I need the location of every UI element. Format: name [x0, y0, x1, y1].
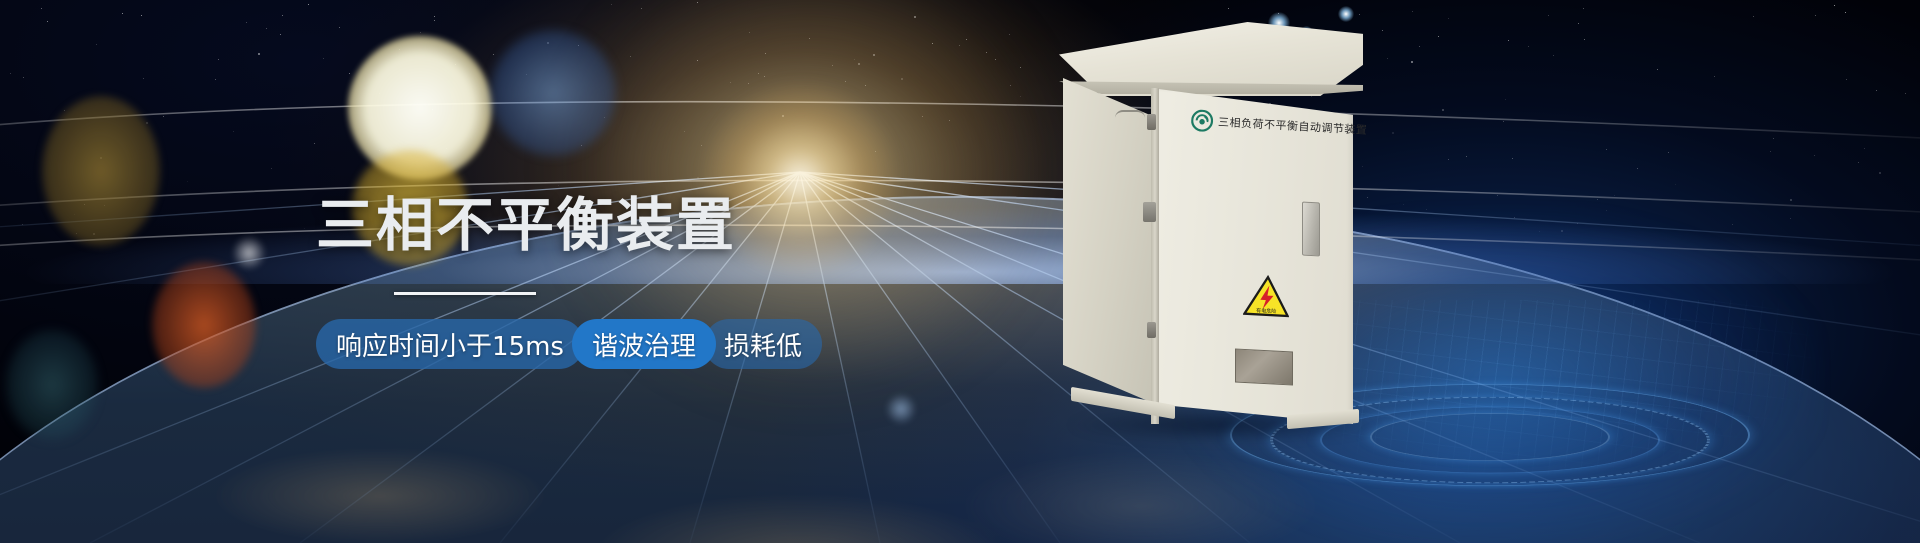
star — [215, 79, 216, 80]
cabinet-door-seam — [1151, 88, 1159, 424]
star — [1387, 58, 1388, 59]
star — [1382, 30, 1383, 31]
star — [1657, 69, 1658, 70]
star — [96, 44, 97, 45]
star — [1905, 93, 1906, 94]
star — [1584, 39, 1585, 40]
star — [1228, 8, 1229, 9]
star — [1753, 16, 1754, 17]
star — [10, 73, 11, 74]
bokeh-olive-left — [42, 96, 160, 246]
star — [308, 4, 309, 5]
star — [258, 53, 260, 55]
star — [1411, 61, 1413, 63]
star — [420, 32, 421, 33]
cabinet-lock — [1143, 202, 1156, 222]
star — [1876, 90, 1877, 91]
star — [434, 20, 435, 21]
cabinet-side-panel — [1063, 78, 1155, 404]
star — [349, 73, 350, 74]
star — [434, 16, 435, 17]
hero-banner: 三相负荷不平衡自动调节装置 有电危险 三相不平衡装置 响应时间小于15ms 谐波… — [0, 0, 1920, 543]
star — [187, 181, 188, 182]
star — [41, 8, 42, 9]
cabinet-door-handle — [1302, 202, 1320, 257]
star — [1773, 138, 1774, 139]
star — [1448, 18, 1449, 19]
star — [47, 21, 48, 22]
feature-tag-harmonic-treatment[interactable]: 谐波治理 — [572, 319, 716, 369]
cabinet-hinge — [1147, 114, 1156, 130]
company-logo-icon — [1191, 109, 1214, 132]
star — [1419, 46, 1420, 47]
star — [1846, 79, 1847, 80]
star — [339, 27, 340, 28]
star — [1578, 23, 1579, 24]
star — [1442, 109, 1444, 111]
cabinet-hinge — [1147, 322, 1156, 338]
star — [233, 131, 234, 132]
star — [1879, 172, 1881, 174]
star — [1438, 36, 1439, 37]
bokeh-small-blue — [886, 394, 916, 424]
product-cabinet: 三相负荷不平衡自动调节装置 有电危险 — [1055, 22, 1375, 442]
star — [122, 13, 123, 14]
star — [1528, 46, 1529, 47]
star — [1583, 8, 1584, 9]
star — [1858, 162, 1859, 163]
star — [271, 168, 272, 169]
star — [1548, 15, 1549, 16]
star — [323, 58, 324, 59]
title-divider — [394, 292, 536, 295]
star — [1770, 151, 1771, 152]
sparkle-icon — [1338, 6, 1354, 22]
star — [282, 15, 283, 16]
star — [1815, 15, 1816, 16]
star — [141, 15, 142, 16]
star — [143, 78, 144, 79]
star — [23, 77, 24, 78]
feature-tag-list: 响应时间小于15ms 谐波治理 损耗低 — [316, 319, 1016, 369]
star — [314, 143, 315, 144]
star — [218, 59, 219, 60]
bokeh-blue-top — [490, 30, 616, 156]
star — [493, 54, 494, 55]
star — [1864, 148, 1865, 149]
star — [1392, 132, 1394, 134]
star — [1508, 40, 1509, 41]
star — [1553, 55, 1554, 56]
feature-tag-response-time[interactable]: 响应时间小于15ms — [316, 319, 584, 369]
star — [1714, 76, 1715, 77]
page-title: 三相不平衡装置 — [316, 196, 1016, 254]
star — [1834, 5, 1835, 6]
star — [280, 34, 281, 35]
bokeh-teal-bottom — [6, 330, 98, 440]
high-voltage-warning-icon: 有电危险 — [1243, 274, 1291, 318]
star — [1505, 99, 1506, 100]
star — [266, 28, 267, 29]
star — [1814, 155, 1815, 156]
star — [163, 116, 164, 117]
star — [1359, 14, 1360, 15]
cabinet-vent — [1235, 348, 1293, 385]
star — [246, 22, 247, 23]
bokeh-orange-lower — [152, 262, 256, 388]
bokeh-small-white — [232, 236, 266, 270]
star — [1845, 12, 1846, 13]
star — [1503, 121, 1504, 122]
cabinet-lifting-eye — [1115, 110, 1145, 118]
feature-tag-low-loss[interactable]: 损耗低 — [704, 319, 822, 369]
star — [1412, 11, 1413, 12]
hero-text-block: 三相不平衡装置 响应时间小于15ms 谐波治理 损耗低 — [316, 196, 1016, 369]
